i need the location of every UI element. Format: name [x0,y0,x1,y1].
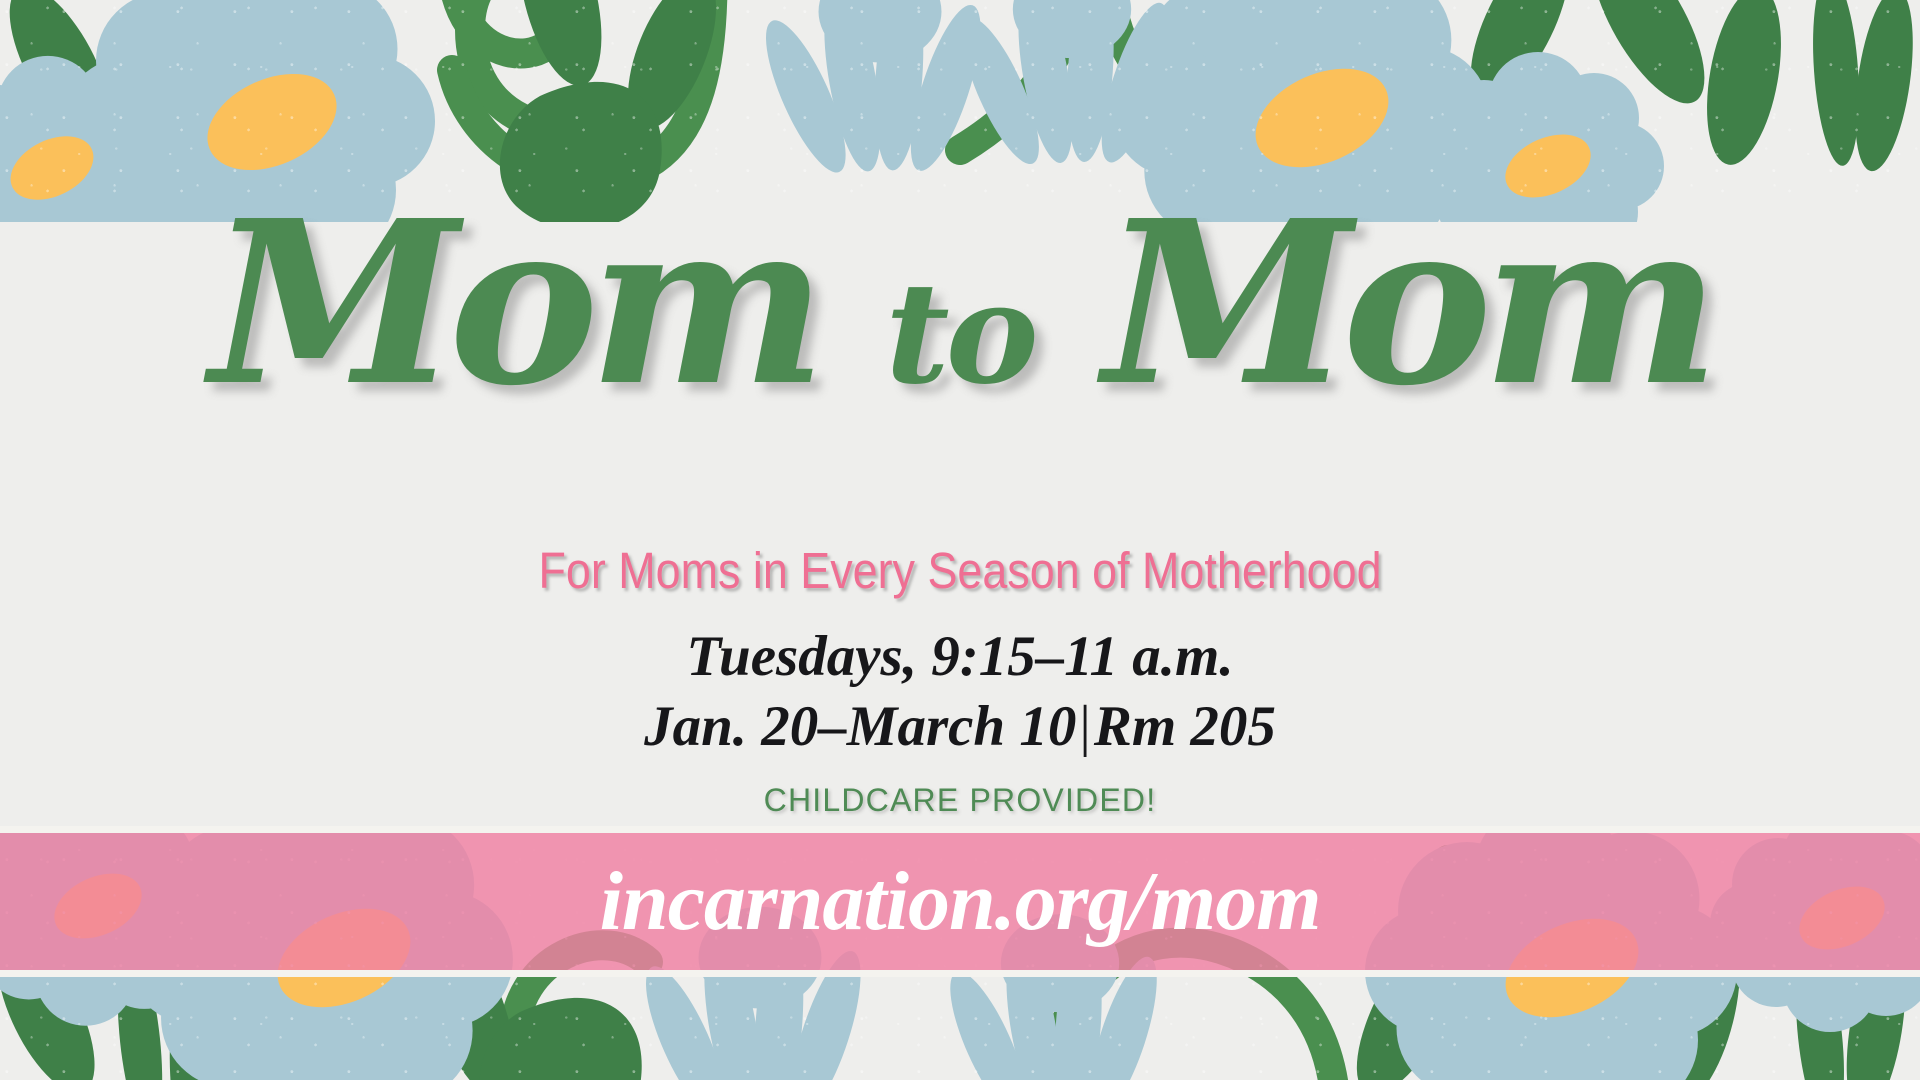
meeting-time: Tuesdays, 9:15–11 a.m. [0,628,1920,685]
page-title: Mom to Mom [0,196,1920,412]
subtitle: For Moms in Every Season of Motherhood [115,545,1805,596]
childcare-note: CHILDCARE PROVIDED! [0,784,1920,816]
detail-separator: | [1076,698,1093,755]
meeting-dates-room: Jan. 20–March 10|Rm 205 [0,698,1920,755]
website-url[interactable]: incarnation.org/mom [0,860,1920,944]
title-word-to: to [885,251,1034,415]
flyer-canvas: Mom to Mom For Moms in Every Season of M… [0,0,1920,1080]
banner-rule-bottom [0,970,1920,977]
date-range: Jan. 20–March 10 [644,695,1076,758]
room-number: Rm 205 [1094,695,1276,758]
title-word-mom-2: Mom [1103,172,1710,436]
url-banner: incarnation.org/mom [0,833,1920,970]
banner-rule-top [0,826,1920,833]
title-word-mom-1: Mom [210,172,817,436]
